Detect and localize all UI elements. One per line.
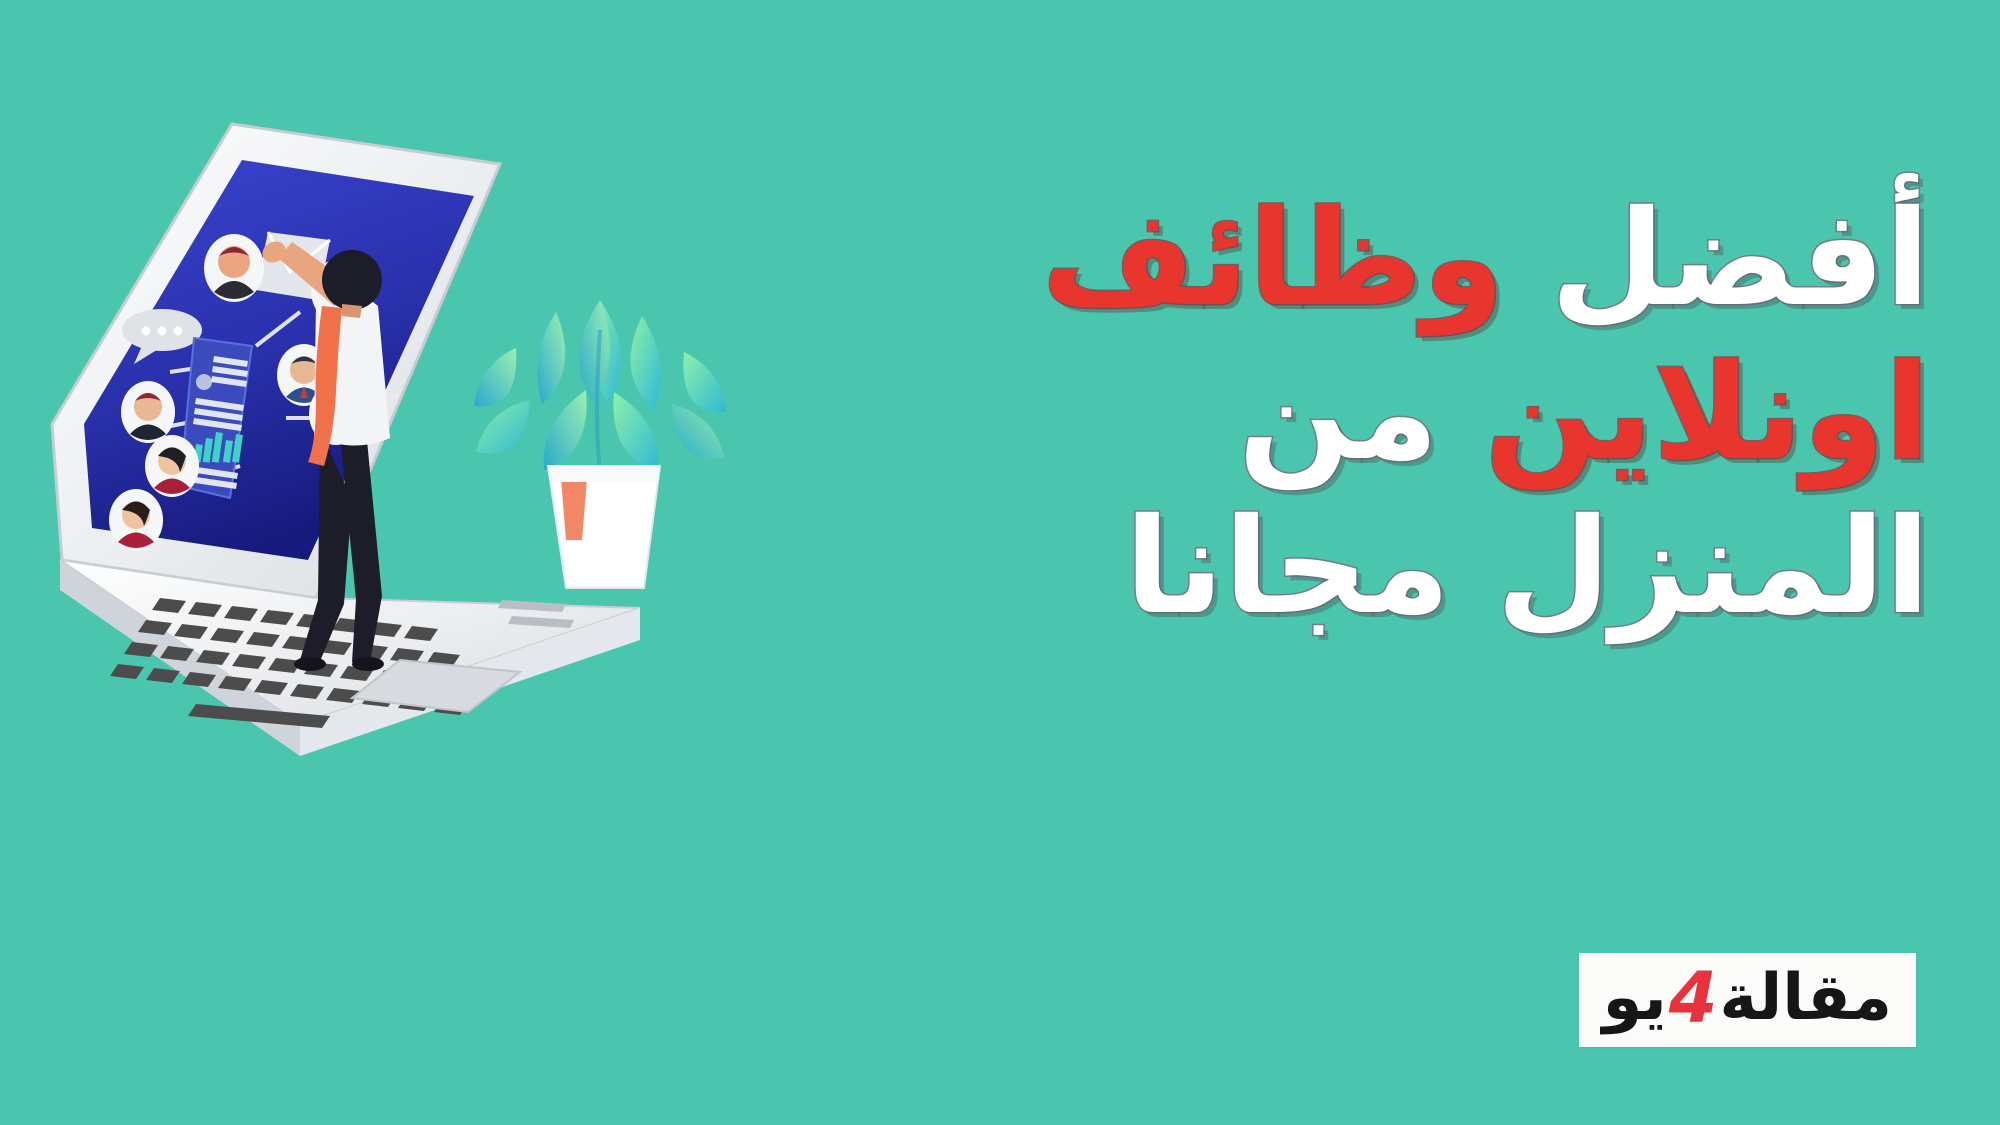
headline-line-2: اونلاين من bbox=[750, 344, 1930, 484]
headline-word-almanzil: المنزل bbox=[1496, 490, 1930, 644]
headline-word-majanan: مجانا bbox=[1125, 490, 1451, 644]
headline-word-wazaif: وظائف bbox=[1042, 182, 1505, 336]
headline-line-3: المنزل مجانا bbox=[750, 498, 1930, 638]
headline-line-1: أفضل وظائف bbox=[750, 190, 1930, 330]
headline-word-min: من bbox=[1238, 336, 1439, 490]
logo-word-maqala: مقالة bbox=[1719, 961, 1892, 1035]
avatar bbox=[204, 234, 264, 302]
site-logo[interactable]: مقالة4يو bbox=[1579, 953, 1916, 1047]
logo-word-you: يو bbox=[1603, 961, 1667, 1035]
avatar bbox=[145, 435, 199, 497]
avatar bbox=[121, 381, 175, 443]
plant-pot bbox=[548, 466, 660, 588]
headline-word-afdal: أفضل bbox=[1550, 182, 1930, 336]
avatar bbox=[109, 489, 163, 551]
logo-number-4: 4 bbox=[1667, 957, 1720, 1039]
poster-canvas: أفضل وظائف اونلاين من المنزل مجانا مقالة… bbox=[0, 0, 2000, 1125]
headline: أفضل وظائف اونلاين من المنزل مجانا bbox=[750, 190, 1930, 652]
headline-word-online: اونلاين bbox=[1485, 336, 1930, 490]
